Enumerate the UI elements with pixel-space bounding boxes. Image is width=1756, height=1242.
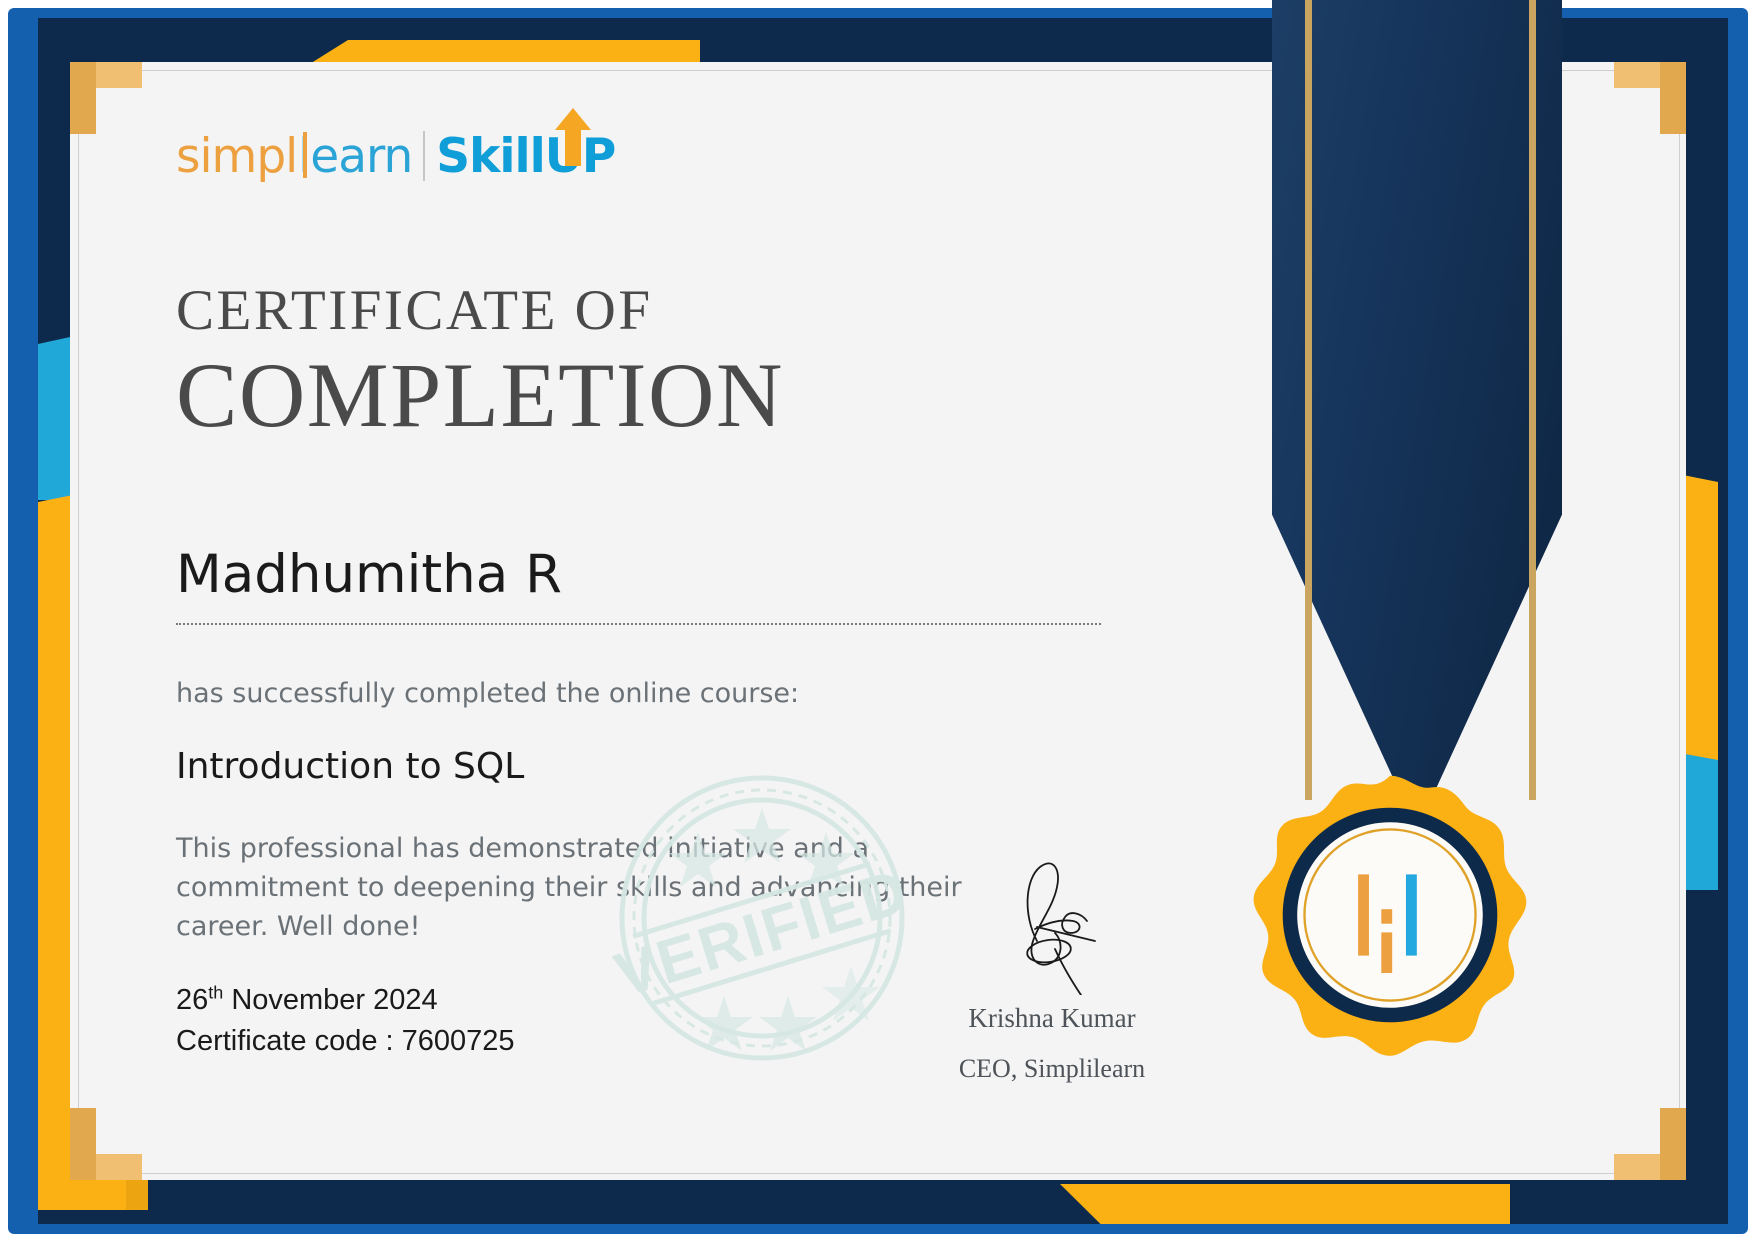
certificate-seal [1245,770,1535,1060]
logo-divider [423,131,425,181]
simplilearn-skillup-logo: simpl learn SkillUP [176,128,615,184]
heading-certificate-of: CERTIFICATE OF [176,282,653,339]
signature-mark-icon [952,880,1152,995]
corner-bracket-bottom-left [70,1108,142,1180]
heading-completion: COMPLETION [176,349,784,441]
logo-i-dot-icon [303,132,307,178]
signature-block: Krishna Kumar CEO, Simplilearn [952,880,1152,1084]
issue-month-year: November 2024 [223,984,437,1016]
certificate-code-value: 7600725 [402,1025,515,1057]
corner-bracket-top-left [70,62,142,134]
completion-lead-text: has successfully completed the online co… [176,678,799,709]
issue-date: 26th November 2024 [176,980,515,1021]
up-arrow-icon [553,108,593,171]
certificate-code-label: Certificate code : [176,1025,402,1057]
corner-bracket-top-right [1614,62,1686,134]
ribbon-gold-stripe-right [1529,0,1536,800]
bottom-amber-wedge [1060,1184,1510,1224]
certificate-page: simpl learn SkillUP CERTIFICATE OF COMPL… [0,0,1756,1242]
course-title: Introduction to SQL [176,746,524,787]
logo-learn-text: learn [298,129,412,184]
ribbon-gold-stripe-left [1305,0,1312,800]
logo-simpli-text: simpl [176,129,297,184]
certificate-code: Certificate code : 7600725 [176,1021,515,1062]
signatory-title: CEO, Simplilearn [952,1054,1152,1084]
recipient-name: Madhumitha R [176,548,562,601]
issue-day: 26 [176,984,208,1016]
signatory-name: Krishna Kumar [952,1003,1152,1034]
issue-day-suffix: th [208,982,223,1002]
issue-details: 26th November 2024 Certificate code : 76… [176,980,515,1062]
corner-bracket-bottom-right [1614,1108,1686,1180]
recipient-underline [176,623,1101,625]
commendation-text: This professional has demonstrated initi… [176,830,966,947]
